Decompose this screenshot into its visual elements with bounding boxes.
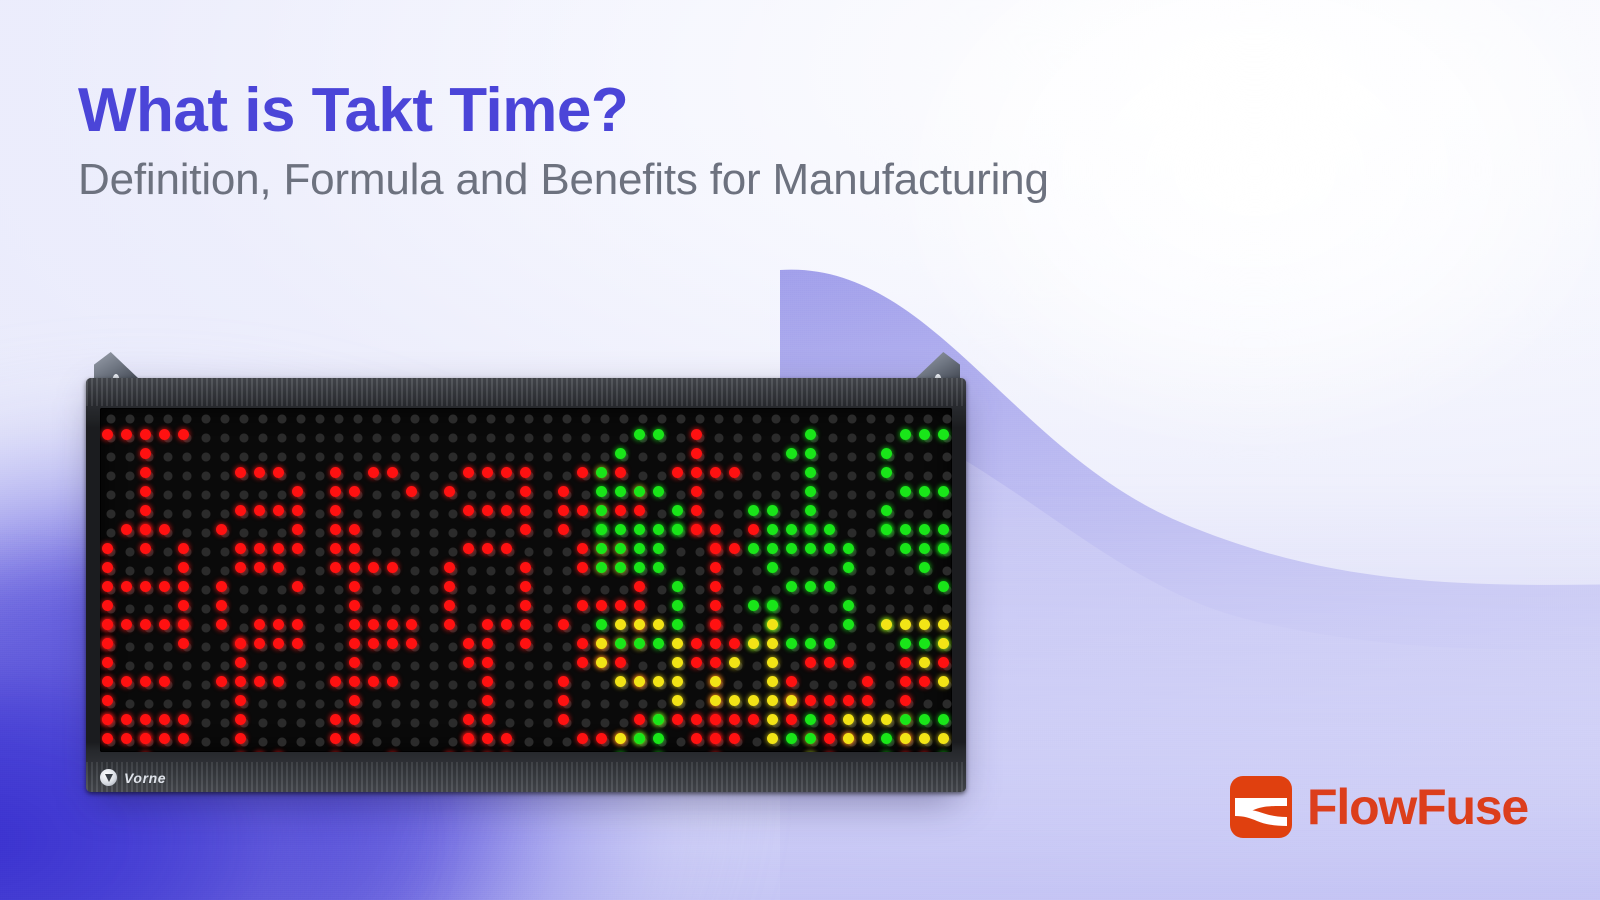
flowfuse-mark-icon xyxy=(1230,776,1292,838)
led-panel xyxy=(100,408,952,752)
header-block: What is Takt Time? Definition, Formula a… xyxy=(78,78,1049,206)
board-enclosure: Vorne xyxy=(86,378,966,792)
page-subtitle: Definition, Formula and Benefits for Man… xyxy=(78,155,1049,206)
vorne-brand-label: Vorne xyxy=(124,770,166,786)
page-title: What is Takt Time? xyxy=(78,78,1049,143)
flowfuse-wordmark: FlowFuse xyxy=(1307,782,1528,832)
vorne-branding: Vorne xyxy=(100,769,166,786)
led-scoreboard: Vorne xyxy=(82,352,972,792)
led-lit-dots xyxy=(100,408,952,752)
flowfuse-logo: FlowFuse xyxy=(1230,776,1528,838)
vorne-logo-icon xyxy=(100,769,117,786)
